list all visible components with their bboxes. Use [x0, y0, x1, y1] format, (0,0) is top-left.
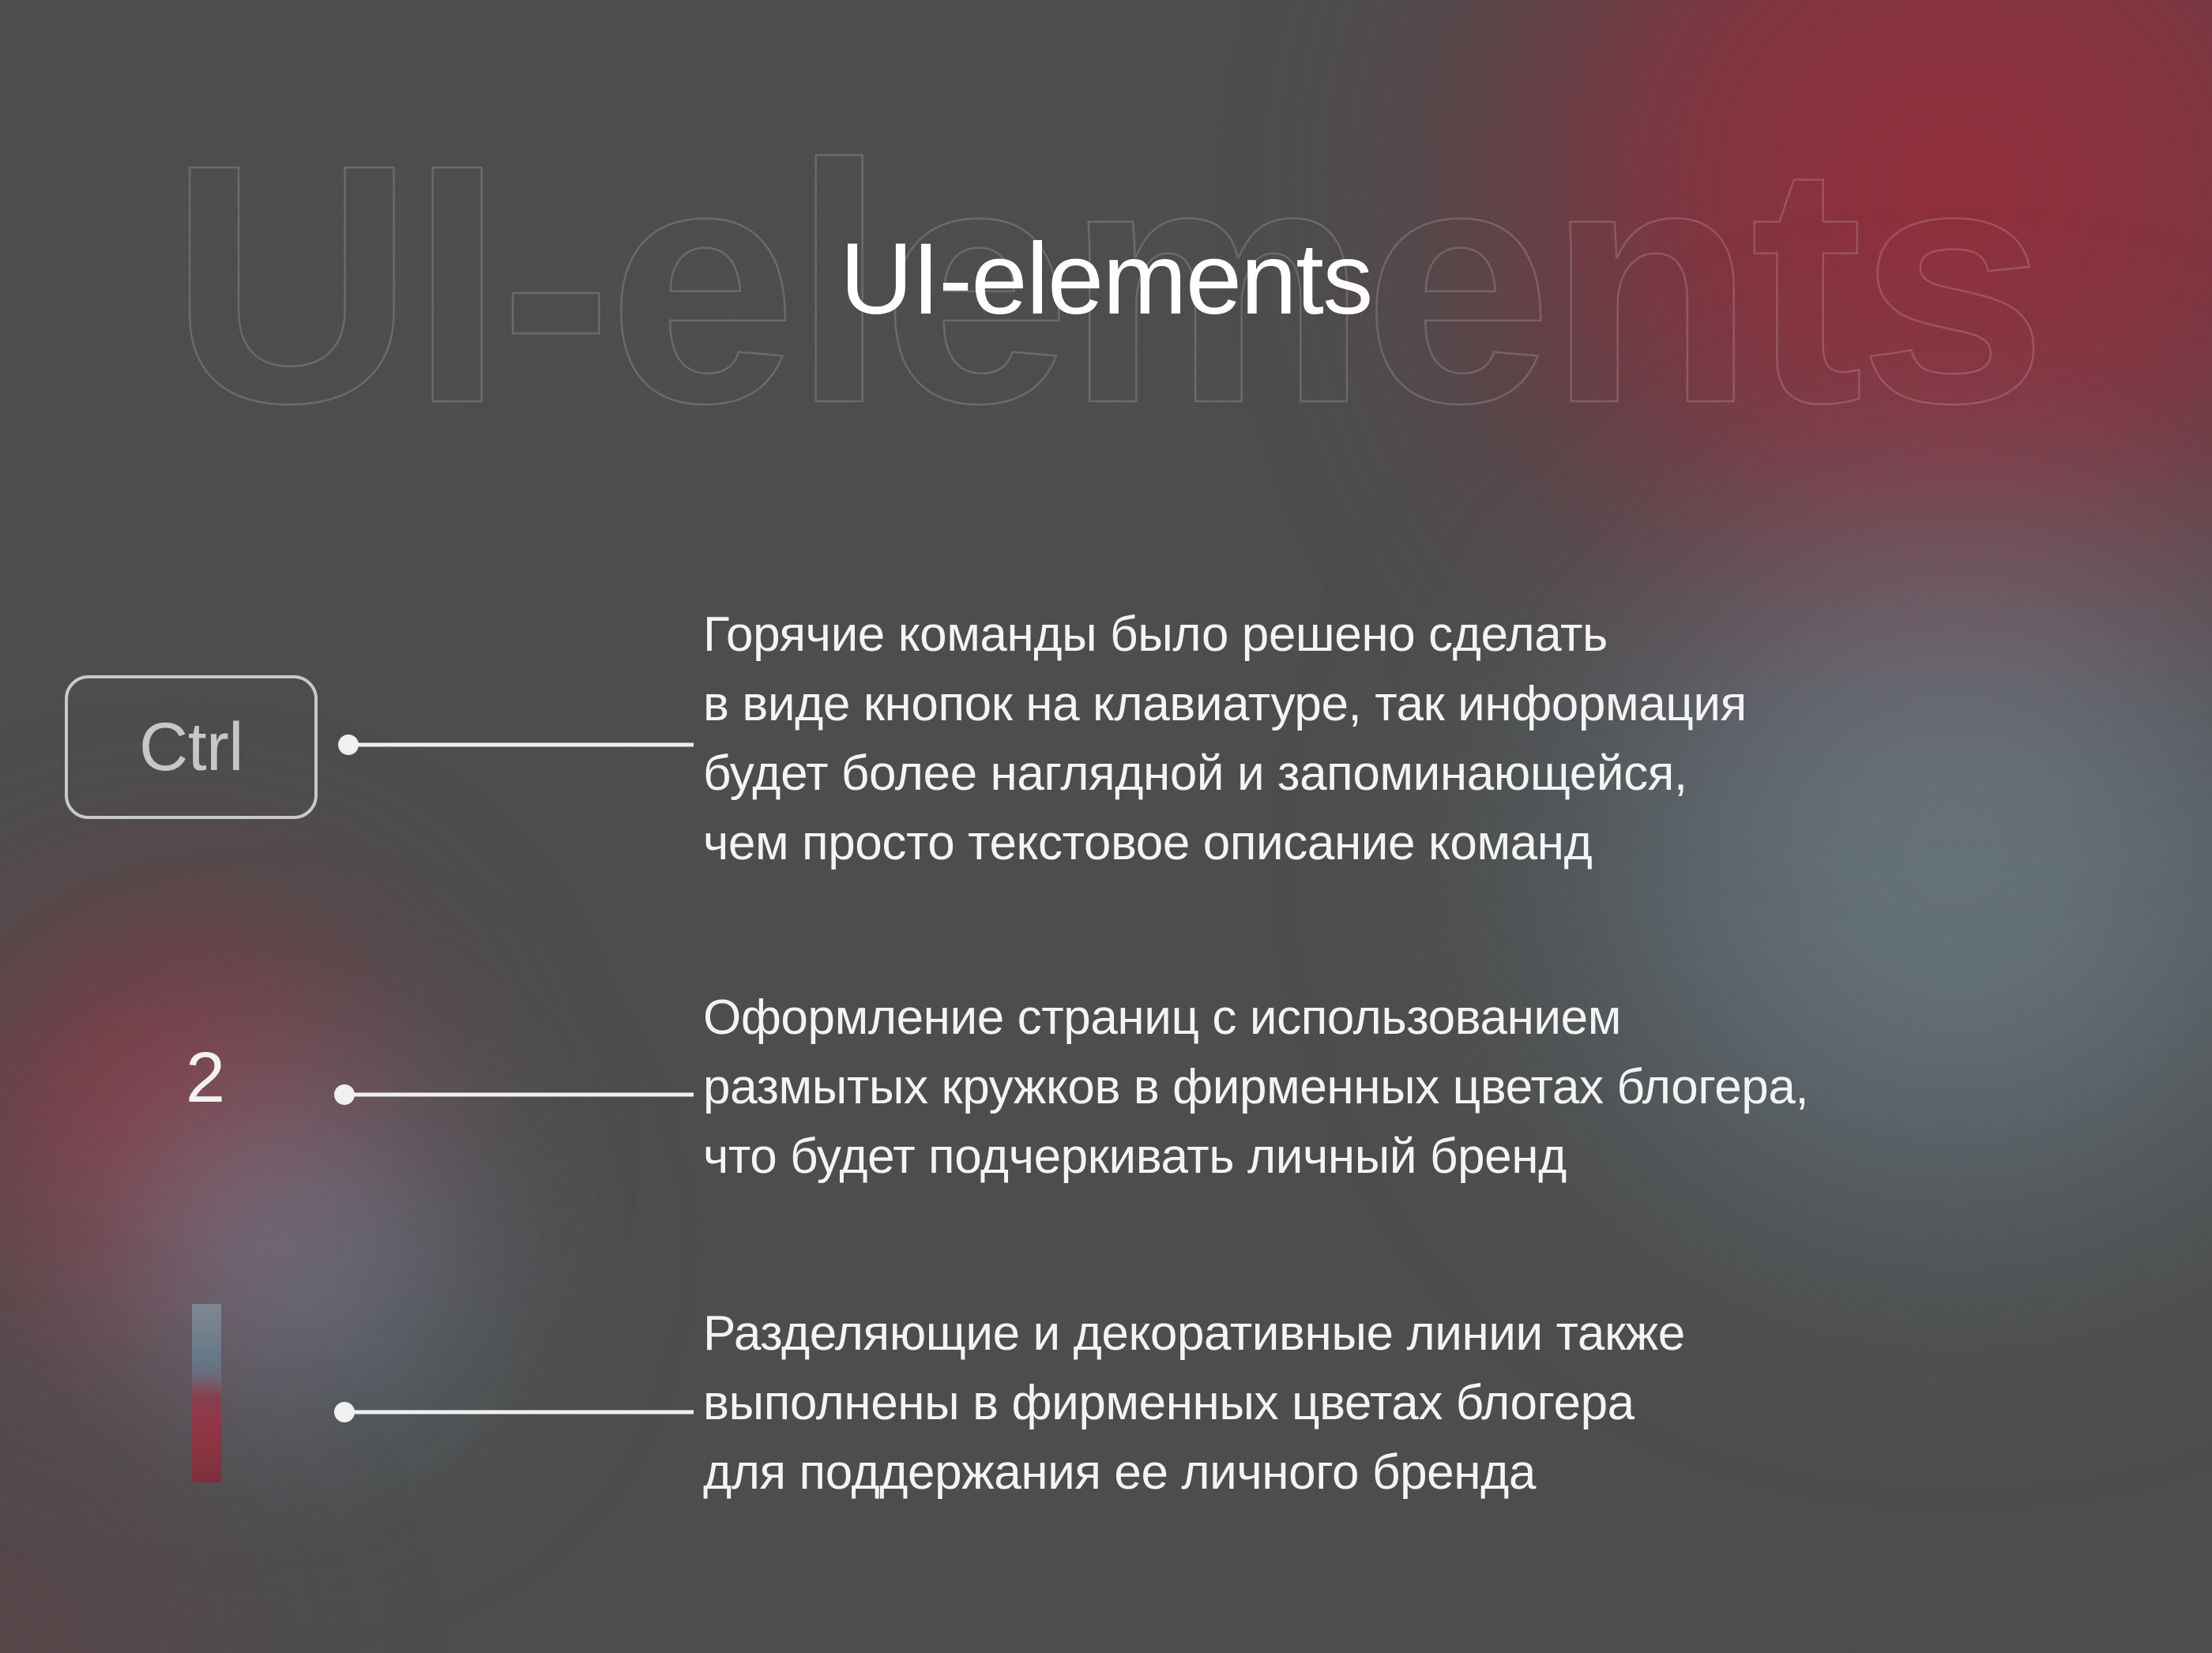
description-text-1: Горячие команды было решено сделать в ви…: [703, 600, 2093, 878]
connector-rule-1: [354, 743, 694, 747]
page-title: UI-elements: [0, 229, 2212, 330]
keyboard-key-ctrl-label: Ctrl: [139, 713, 243, 781]
connector-rule-3: [350, 1411, 694, 1414]
marker-number-2: 2: [142, 1043, 269, 1114]
description-text-2: Оформление страниц с использованием разм…: [703, 983, 2093, 1192]
connector-rule-2: [350, 1093, 694, 1097]
blur-circle-red-left: [0, 888, 458, 1394]
gradient-divider-bar: [192, 1304, 221, 1482]
blur-circle-red-bottom-left: [0, 1390, 269, 1653]
keyboard-key-ctrl[interactable]: Ctrl: [65, 675, 318, 819]
slide-canvas: UI-elements UI-elements Ctrl Горячие ком…: [0, 0, 2212, 1653]
description-text-3: Разделяющие и декоративные линии также в…: [703, 1299, 2093, 1508]
